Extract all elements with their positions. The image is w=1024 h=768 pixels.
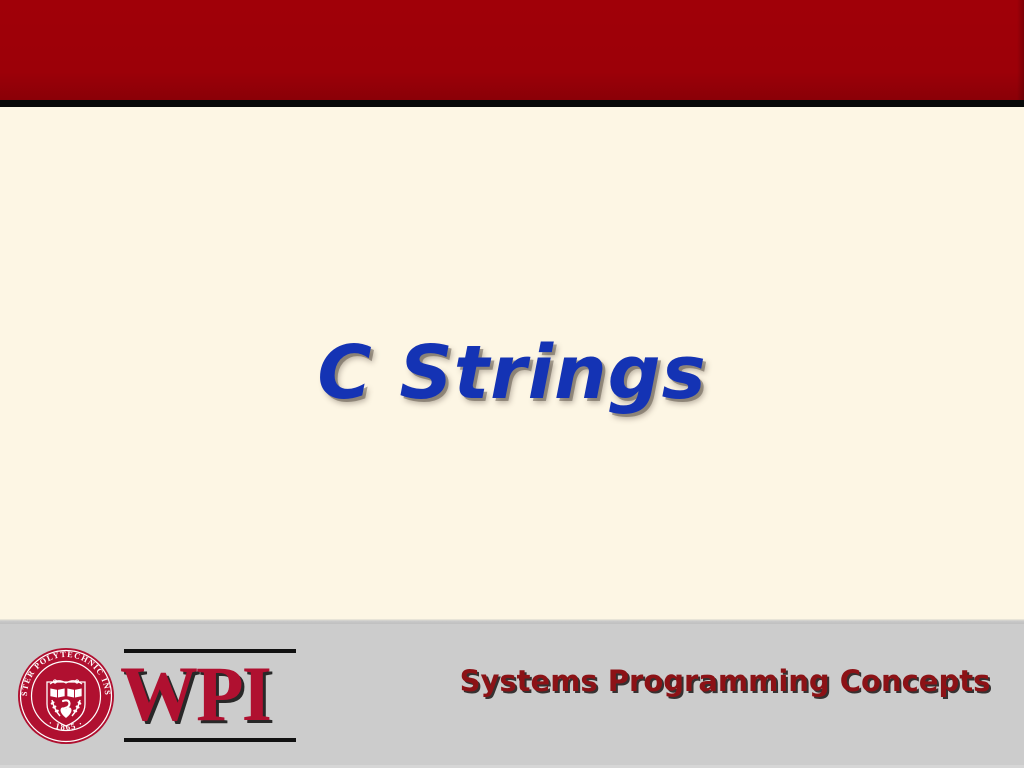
wpi-rule-bottom [124,738,296,742]
wpi-seal-icon: WORCESTER POLYTECHNIC INSTITUTE · 1865 · [16,646,116,746]
presentation-slide: C Strings WORCESTER POLYTECHNIC INSTIT [0,0,1024,768]
header-band-right-edge [1017,0,1024,100]
header-divider-rule [0,100,1024,107]
header-band [0,0,1024,100]
footer-caption: Systems Programming Concepts [455,664,995,698]
wpi-wordmark: WPI [120,648,300,740]
slide-title: C Strings [0,330,1024,416]
wpi-logo: WORCESTER POLYTECHNIC INSTITUTE · 1865 · [16,642,294,750]
